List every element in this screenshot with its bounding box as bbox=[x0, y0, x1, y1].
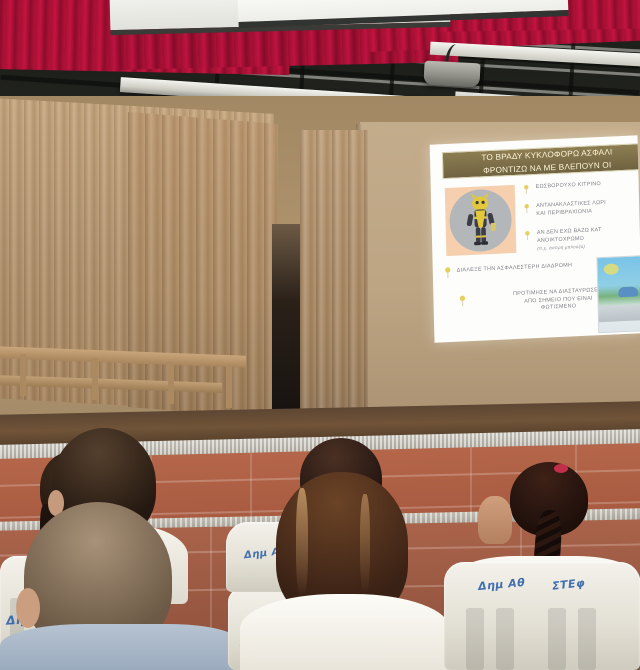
slide-bullet-wide-text: ΔΙΑΛΕΞΕ ΤΗΝ ΑΣΦΑΛΕΣΤΕΡΗ ΔΙΑΔΡΟΜΗ bbox=[457, 262, 573, 273]
pin-icon bbox=[525, 230, 530, 240]
illustration-circle bbox=[449, 188, 512, 253]
chair-slat bbox=[578, 608, 596, 670]
slide-bullet-2-text-line2: ΚΑΙ ΠΕΡΙΒΡΑΧΙΟΝΙΑ bbox=[536, 208, 592, 217]
slide-bullet-3-text-line2: ΑΝΟΙΚΤΟΧΡΩΜΟ bbox=[537, 235, 584, 243]
pin-icon bbox=[524, 204, 529, 214]
chair-slat bbox=[466, 608, 484, 670]
sun-icon bbox=[604, 263, 619, 275]
stage-curtain-center bbox=[128, 112, 278, 419]
hair-highlight bbox=[296, 488, 308, 598]
stage-curtain-right bbox=[300, 130, 368, 425]
slide-title: ΤΟ ΒΡΑΔΥ ΚΥΚΛΟΦΟΡΩ ΑΣΦΑΛΙ ΦΡΟΝΤΙΖΩ ΝΑ ΜΕ… bbox=[442, 143, 640, 180]
bench-leg bbox=[20, 354, 26, 396]
photo-scene: ΤΟ ΒΡΑΔΥ ΚΥΚΛΟΦΟΡΩ ΑΣΦΑΛΙ ΦΡΟΝΤΙΖΩ ΝΑ ΜΕ… bbox=[0, 0, 640, 670]
road-shape bbox=[599, 304, 640, 322]
shirt-girl-center-front bbox=[240, 594, 450, 670]
pin-icon bbox=[524, 184, 529, 194]
slide-bullet-3-text: ΑΝ ΔΕΝ ΕΧΩ ΒΑΖΩ ΚΑΤ bbox=[537, 227, 602, 236]
slide-bullet-2-text: ΑΝΤΑΝΑΚΛΑΣΤΙΚΕΣ ΛΩΡΙ bbox=[536, 200, 606, 209]
hand-raised bbox=[478, 496, 512, 544]
slide-bullet-list: ΕΩΣΒΟΡΟΥΧΟ ΚΙΤΡΙΝΟ ΑΝΤΑΝΑΚΛΑΣΤΙΚΕΣ ΛΩΡΙ … bbox=[523, 179, 640, 262]
pedestrian-illustration bbox=[445, 185, 517, 256]
chair-slat bbox=[496, 608, 514, 670]
slide-bullet-3-subtext: (π.χ. άσπρη μπλούζα) bbox=[537, 244, 585, 251]
slide-bullet-1-text: ΕΩΣΒΟΡΟΥΧΟ ΚΙΤΡΙΝΟ bbox=[536, 181, 601, 190]
bench-leg bbox=[168, 362, 174, 404]
slide-bullet-2: ΑΝΤΑΝΑΚΛΑΣΤΙΚΕΣ ΛΩΡΙ ΚΑΙ ΠΕΡΙΒΡΑΧΙΟΝΙΑ bbox=[523, 199, 639, 219]
hair-tie bbox=[554, 464, 568, 473]
pin-icon bbox=[459, 295, 465, 306]
chair-slat bbox=[548, 608, 566, 670]
pin-icon bbox=[445, 267, 451, 278]
projected-slide: ΤΟ ΒΡΑΔΥ ΚΥΚΛΟΦΟΡΩ ΑΣΦΑΛΙ ΦΡΟΝΤΙΖΩ ΝΑ ΜΕ… bbox=[430, 135, 640, 342]
road-scene-thumbnail bbox=[596, 255, 640, 333]
car-icon bbox=[618, 286, 638, 297]
bench-leg bbox=[226, 366, 232, 408]
slide-bullet-1: ΕΩΣΒΟΡΟΥΧΟ ΚΙΤΡΙΝΟ bbox=[523, 179, 639, 192]
shirt-boy-front-left bbox=[0, 624, 240, 670]
pedestrian-with-vest-icon bbox=[449, 188, 512, 253]
ear bbox=[16, 588, 40, 628]
hair-highlight bbox=[360, 494, 370, 594]
chair-right[interactable] bbox=[444, 562, 640, 670]
projector-icon bbox=[423, 61, 480, 88]
slide-bullet-3: ΑΝ ΔΕΝ ΕΧΩ ΒΑΖΩ ΚΑΤ ΑΝΟΙΚΤΟΧΡΩΜΟ (π.χ. ά… bbox=[524, 226, 640, 254]
bench-leg bbox=[92, 358, 98, 400]
